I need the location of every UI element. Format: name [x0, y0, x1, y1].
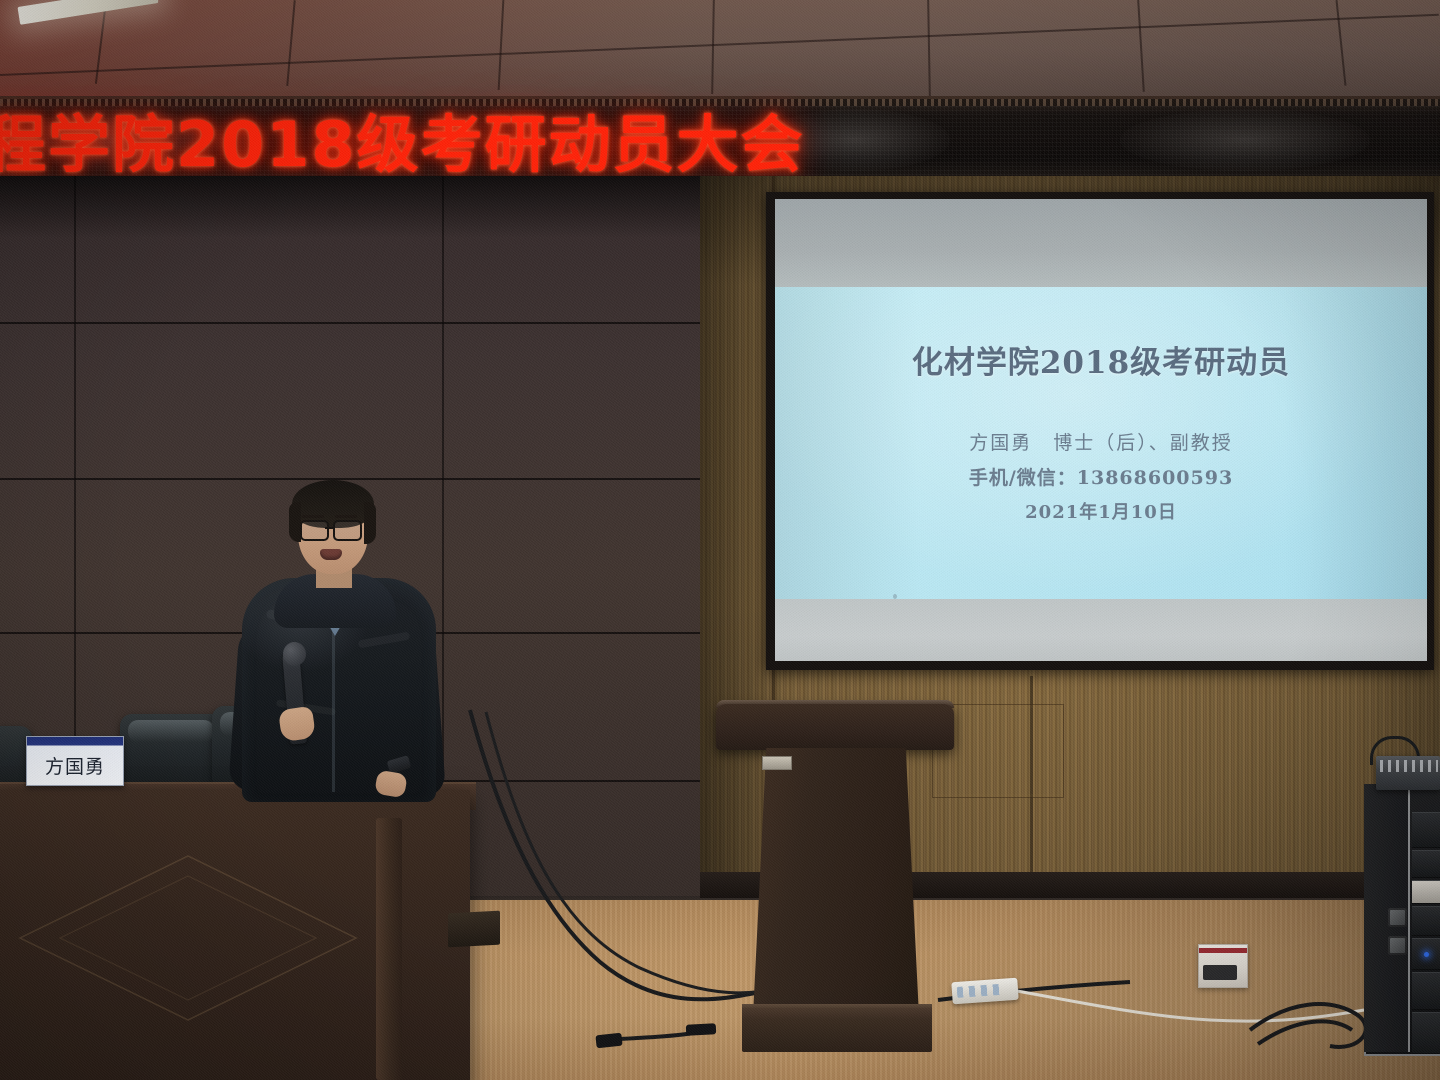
- cable-coil: [1258, 1021, 1352, 1044]
- glasses-icon: [300, 520, 329, 541]
- ceiling-color-cast: [0, 0, 1440, 108]
- led-banner-text: 程学院2018级考研动员大会: [0, 95, 744, 183]
- glasses-bridge: [325, 527, 333, 529]
- screen-unlit-top: [775, 199, 1427, 287]
- podium-label-plate: [762, 756, 792, 770]
- rack-unit[interactable]: [1412, 972, 1440, 1010]
- chair-highlight: [128, 720, 214, 742]
- cardboard-box: [1198, 944, 1248, 988]
- rack-latch[interactable]: [1388, 908, 1407, 927]
- mixer-knobs[interactable]: [1380, 760, 1438, 772]
- rack-power-led: [1424, 952, 1429, 957]
- cable-connector: [595, 1033, 622, 1049]
- led-glare: [1120, 109, 1370, 171]
- rack-unit[interactable]: [1412, 906, 1440, 936]
- name-placard-text: 方国勇: [45, 752, 105, 785]
- eyebrow: [335, 515, 357, 518]
- floor-monitor: [448, 911, 500, 948]
- wall-seam-horizontal: [0, 322, 716, 324]
- wall-top-shadow: [0, 176, 716, 238]
- cable: [486, 712, 792, 993]
- ceiling: [0, 0, 1440, 108]
- rack-unit-light[interactable]: [1412, 880, 1440, 904]
- podium-base: [742, 1008, 932, 1052]
- projection-screen: 化材学院2018级考研动员 方国勇 博士（后）、副教授 手机/微信：138686…: [775, 199, 1427, 661]
- podium-column: [753, 748, 919, 1016]
- lecture-hall-photo: 程学院2018级考研动员大会 化材学院2018级考研动员 方国勇 博士（后）、副…: [0, 0, 1440, 1080]
- screen-unlit-bottom: [775, 599, 1427, 661]
- eyebrow: [302, 515, 324, 518]
- podium-top: [716, 704, 954, 750]
- rack-unit[interactable]: [1412, 850, 1440, 878]
- wall-seam-horizontal: [0, 478, 716, 480]
- rack-latch[interactable]: [1388, 936, 1407, 955]
- rack-unit[interactable]: [1412, 812, 1440, 848]
- glasses-icon: [333, 520, 362, 541]
- chair: [120, 714, 224, 786]
- cable-connector: [686, 1023, 717, 1036]
- mouth: [320, 549, 342, 560]
- hair-side: [364, 502, 376, 544]
- name-placard: 方国勇: [26, 736, 124, 786]
- rack-unit[interactable]: [1412, 1012, 1440, 1054]
- jacket-fold: [358, 632, 411, 649]
- table-leg: [376, 818, 402, 1080]
- cable: [470, 710, 760, 999]
- power-strip[interactable]: [951, 978, 1018, 1005]
- speaker-person: [236, 482, 442, 802]
